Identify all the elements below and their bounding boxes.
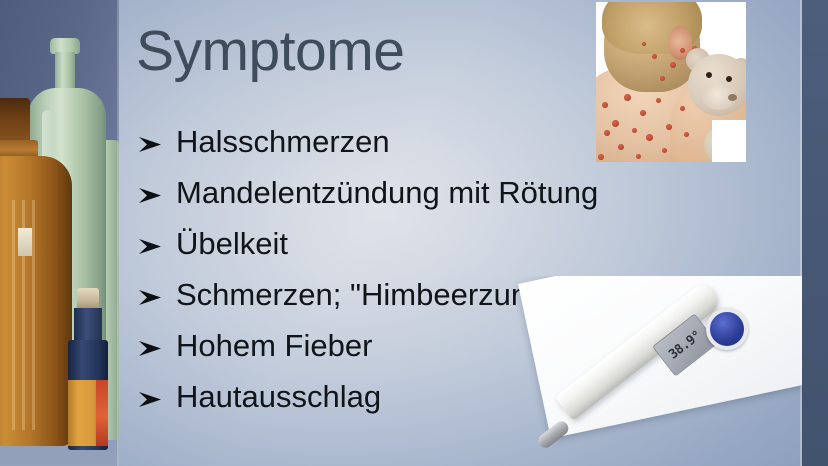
- arrow-bullet-icon: [138, 271, 176, 305]
- bullet-item-label: Halsschmerzen: [176, 116, 390, 167]
- thermometer-power-button: [706, 308, 748, 350]
- thermometer-reading: 38.9°: [666, 328, 704, 362]
- arrow-bullet-icon: [138, 118, 176, 152]
- right-accent-band: [802, 0, 828, 466]
- arrow-bullet-icon: [138, 220, 176, 254]
- photo-white-corner-bottom: [712, 120, 746, 162]
- amber-bottle-label: [18, 228, 32, 256]
- bullet-item-label: Übelkeit: [176, 218, 288, 269]
- blue-vial-label-side: [96, 380, 108, 446]
- bullet-item-label: Hohem Fieber: [176, 320, 372, 371]
- amber-bottle-body: [0, 156, 72, 446]
- arrow-bullet-icon: [138, 322, 176, 356]
- amber-bottle-cap: [0, 98, 30, 146]
- bullet-item-label: Hautausschlag: [176, 371, 381, 422]
- photo-strip-edge: [117, 0, 119, 466]
- teddy-bear-eye-right: [726, 76, 732, 82]
- apothecary-bottles-photo: [0, 0, 119, 466]
- bullet-item-2: Mandelentzündung mit Rötung: [138, 167, 778, 218]
- child-with-rash-photo: [596, 2, 746, 162]
- bullet-item-3: Übelkeit: [138, 218, 778, 269]
- teddy-bear-nose: [728, 94, 737, 101]
- blue-vial-cork: [77, 288, 99, 310]
- photo-white-corner: [702, 2, 746, 58]
- bullet-item-label: Mandelentzündung mit Rötung: [176, 167, 598, 218]
- slide-title: Symptome: [136, 22, 404, 82]
- arrow-bullet-icon: [138, 373, 176, 407]
- blue-vial-neck: [74, 308, 102, 344]
- arrow-bullet-icon: [138, 169, 176, 203]
- digital-thermometer-photo: 38.9°: [506, 276, 828, 466]
- teddy-bear-eye-left: [706, 72, 712, 78]
- presentation-slide: Symptome Halsschmerzen Mandelentzündung …: [0, 0, 828, 466]
